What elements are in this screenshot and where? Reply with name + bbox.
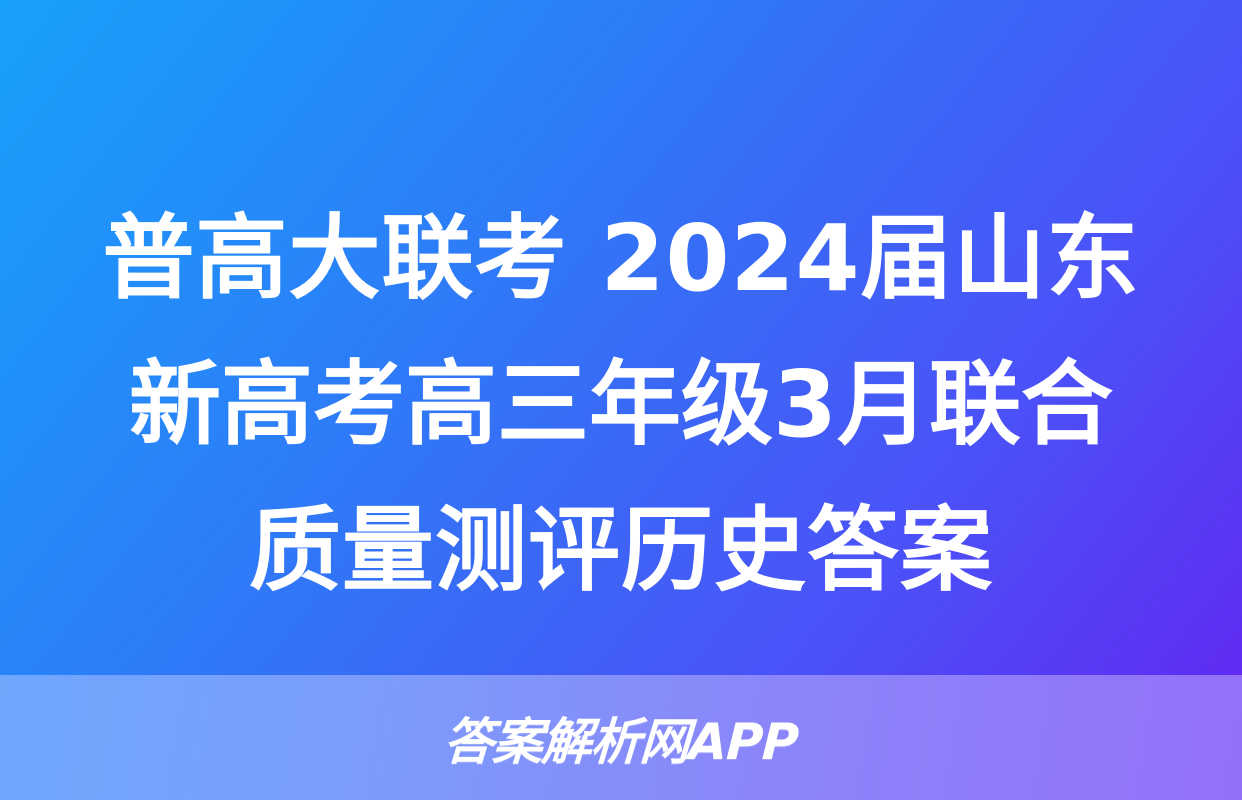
app-watermark-label: 答案解析网APP	[442, 702, 800, 774]
poster-card: 普高大联考 2024届山东 新高考高三年级3月联合 质量测评历史答案 答案解析网…	[0, 0, 1242, 800]
headline-line-1: 普高大联考 2024届山东	[102, 186, 1139, 332]
headline-line-2: 新高考高三年级3月联合	[129, 332, 1113, 478]
headline-block: 普高大联考 2024届山东 新高考高三年级3月联合 质量测评历史答案	[82, 186, 1160, 626]
headline-line-3: 质量测评历史答案	[249, 478, 993, 624]
footer-watermark-band: 答案解析网APP	[0, 675, 1242, 800]
